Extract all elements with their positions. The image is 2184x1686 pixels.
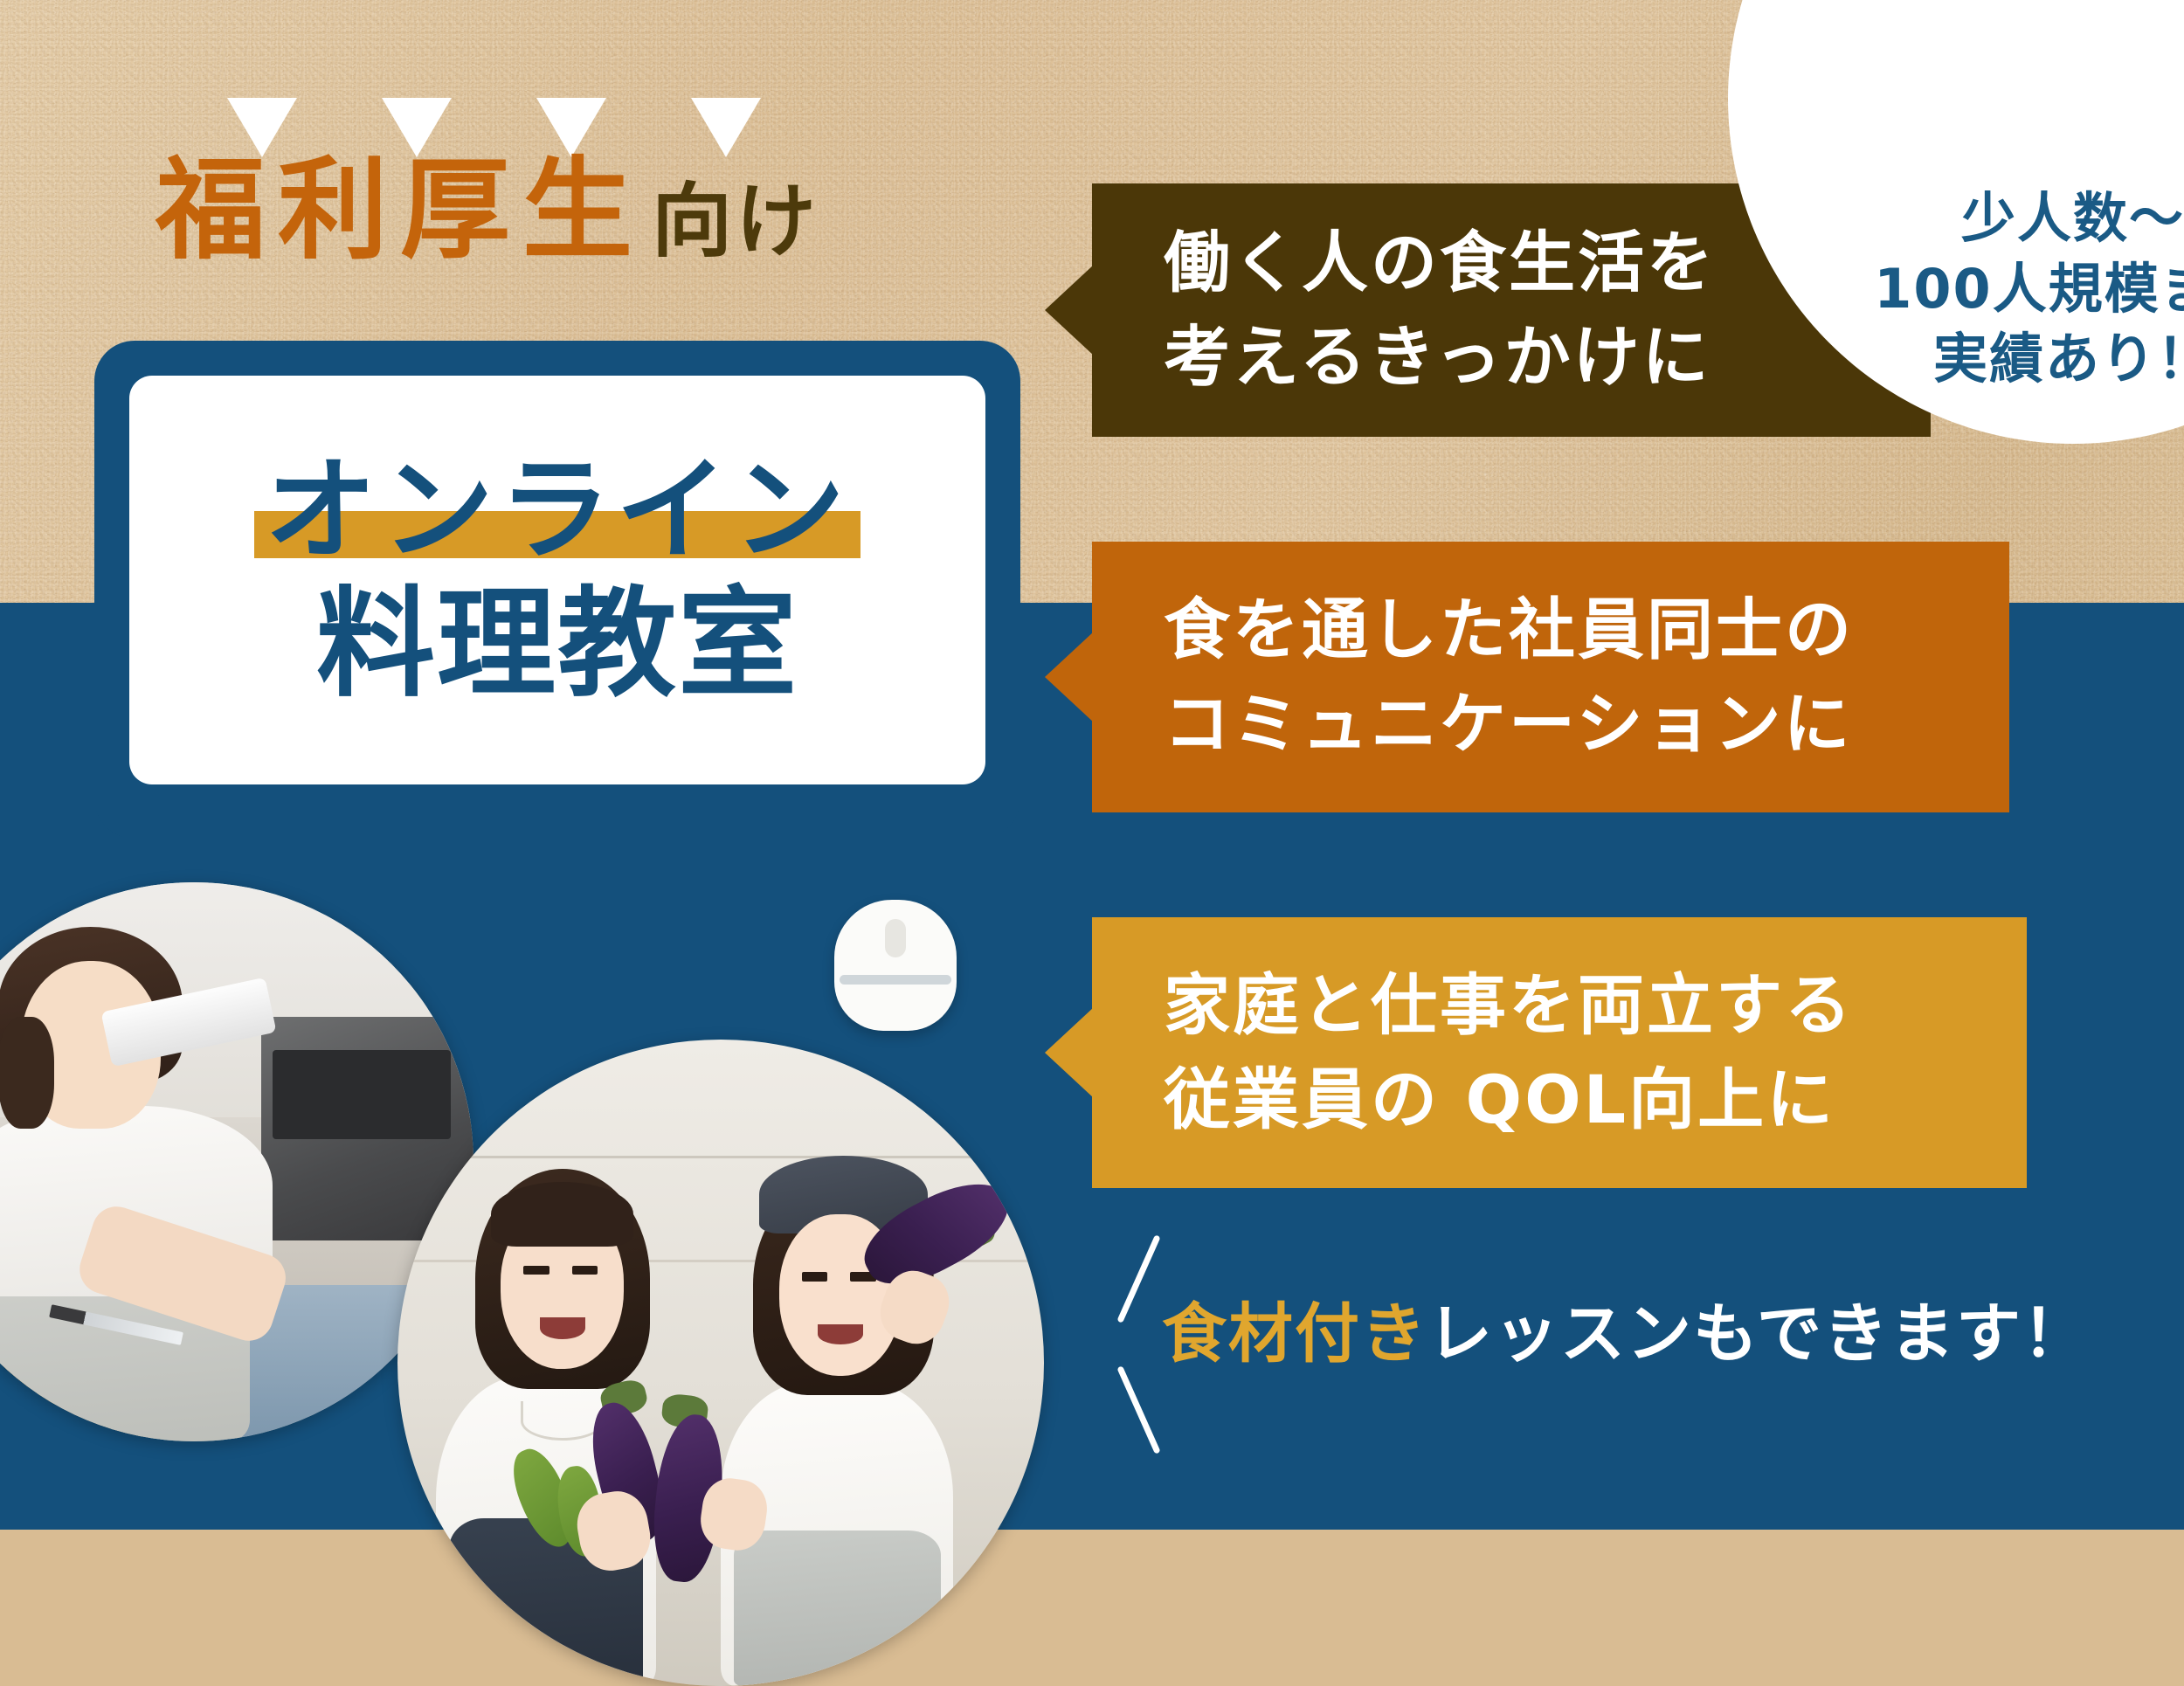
right-person-mouth [818, 1324, 863, 1345]
left-person-eye [572, 1266, 598, 1275]
callout-arrow-icon [1045, 632, 1094, 722]
wall-line [397, 1156, 1044, 1158]
photo-eggplant [397, 1040, 1044, 1686]
right-person-apron [734, 1531, 941, 1686]
photo-eggplant-scene [397, 1040, 1044, 1686]
title-card-stem [463, 812, 638, 978]
callout-3-line-1: 家庭と仕事を両立する [1164, 958, 2027, 1053]
callout-3-line-2: 従業員の QOL向上に [1164, 1053, 2027, 1147]
right-person-eye [802, 1272, 828, 1281]
title-line1: オンライン [265, 453, 850, 570]
callout-arrow-icon [1045, 1007, 1094, 1098]
person-hair-side [0, 1017, 54, 1129]
title-card-inner: オンライン 料理教室 [129, 376, 985, 784]
badge-line-2: 100人規模まで [1874, 254, 2184, 325]
tagline-rest: レッスンもできます！ [1427, 1296, 2089, 1372]
callout-arrow-icon [1045, 265, 1094, 356]
left-person-eye [523, 1266, 549, 1275]
bottom-tagline: 食材付きレッスンもできます！ [1162, 1302, 2089, 1366]
callout-2-line-2: コミュニケーションに [1164, 677, 2009, 771]
title-line1-wrap: オンライン [265, 453, 850, 570]
left-person-bangs [491, 1182, 633, 1247]
tagline-highlight: 食材付き [1162, 1296, 1427, 1372]
pennant-triangle-icon [691, 98, 761, 157]
badge-line-1: 少人数〜 [1961, 183, 2184, 254]
badge-line-3: 実績あり！ [1933, 324, 2184, 395]
computer-mouse-icon [834, 900, 957, 1031]
heading-sub-text: 向け [652, 182, 819, 266]
callout-2-line-1: 食を通した社員同士の [1164, 583, 2009, 677]
title-line2: 料理教室 [316, 583, 798, 708]
callout-box-2: 食を通した社員同士の コミュニケーションに [1092, 542, 2009, 812]
callout-box-3: 家庭と仕事を両立する 従業員の QOL向上に [1092, 917, 2027, 1188]
heading-main-text: 福利厚生 [156, 155, 645, 266]
page-heading: 福利厚生 向け [156, 155, 819, 266]
left-person-mouth [540, 1317, 585, 1339]
left-person-necklace [521, 1401, 605, 1440]
